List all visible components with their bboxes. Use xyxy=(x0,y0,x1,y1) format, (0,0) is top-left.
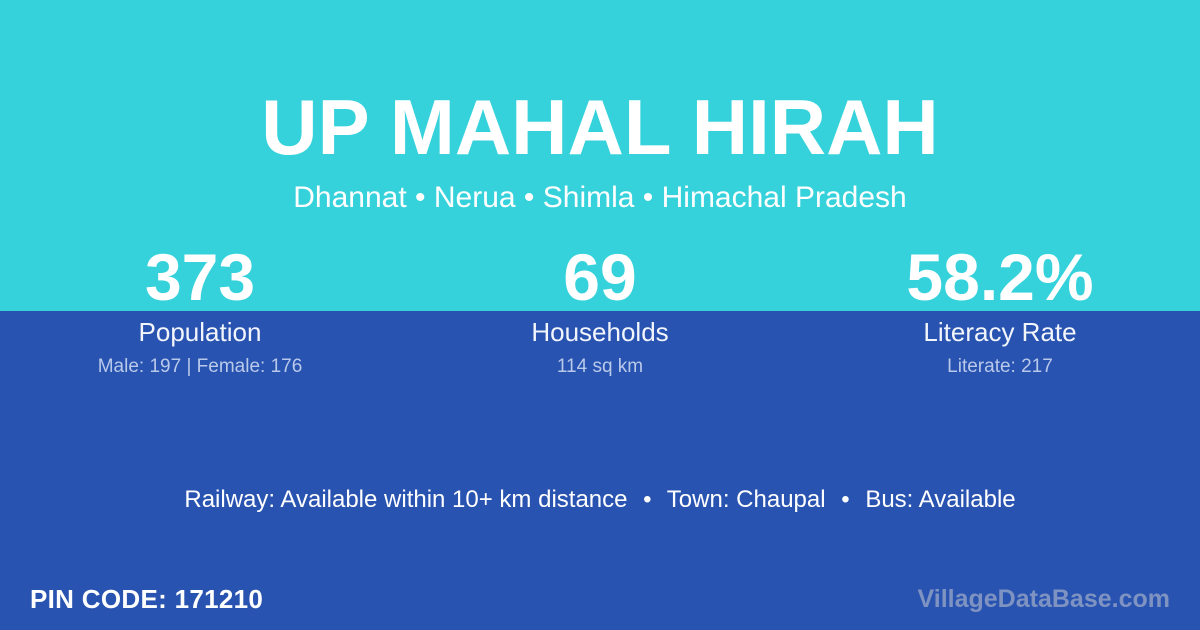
pin-code-label: PIN CODE: 171210 xyxy=(30,584,263,614)
amenity-bus: Bus: Available xyxy=(865,486,1015,513)
page-title: UP MAHAL HIRAH xyxy=(0,0,1200,170)
breadcrumb: Dhannat • Nerua • Shimla • Himachal Prad… xyxy=(0,170,1200,216)
stat-sub-literacy-rate: Literate: 217 xyxy=(800,355,1200,379)
amenity-separator-2: • xyxy=(832,484,858,516)
stat-value-literacy-rate: 58.2% xyxy=(800,243,1200,311)
stat-households: 69 Households 114 sq km xyxy=(400,243,800,379)
amenities-row: Railway: Available within 10+ km distanc… xyxy=(0,484,1200,516)
amenity-separator-1: • xyxy=(634,484,660,516)
village-info-card: UP MAHAL HIRAH Dhannat • Nerua • Shimla … xyxy=(0,0,1200,630)
stat-label-literacy-rate: Literacy Rate xyxy=(800,317,1200,347)
stats-row: 373 Population Male: 197 | Female: 176 6… xyxy=(0,243,1200,379)
stat-value-population: 373 xyxy=(0,243,400,311)
stat-label-households: Households xyxy=(400,317,800,347)
stat-sub-population: Male: 197 | Female: 176 xyxy=(0,355,400,379)
brand-watermark: VillageDataBase.com xyxy=(918,584,1170,614)
amenity-railway: Railway: Available within 10+ km distanc… xyxy=(184,486,627,513)
stat-label-population: Population xyxy=(0,317,400,347)
stat-literacy-rate: 58.2% Literacy Rate Literate: 217 xyxy=(800,243,1200,379)
amenity-town: Town: Chaupal xyxy=(667,486,826,513)
card-footer: PIN CODE: 171210 VillageDataBase.com xyxy=(0,568,1200,630)
stat-sub-households: 114 sq km xyxy=(400,355,800,379)
stat-value-households: 69 xyxy=(400,243,800,311)
card-header: UP MAHAL HIRAH Dhannat • Nerua • Shimla … xyxy=(0,0,1200,216)
stat-population: 373 Population Male: 197 | Female: 176 xyxy=(0,243,400,379)
